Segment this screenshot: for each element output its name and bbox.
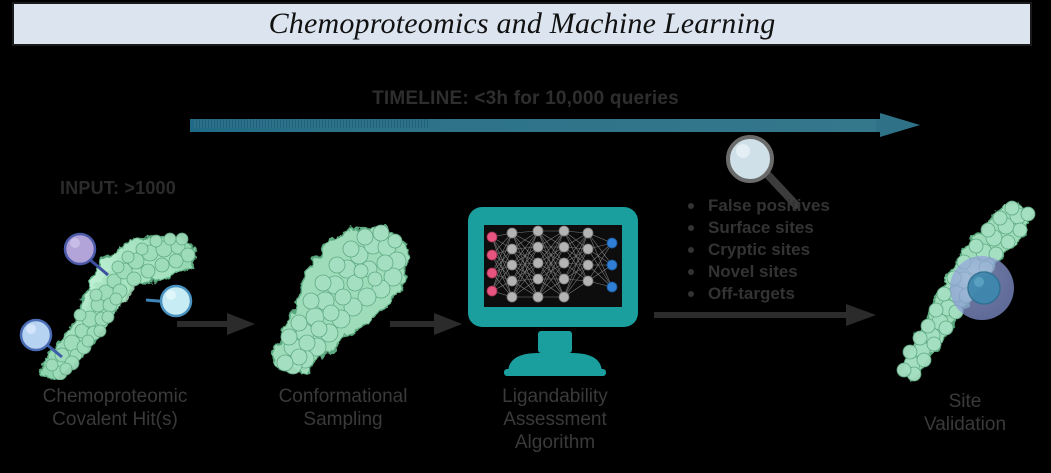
protein-conformational-sampling [255,205,440,385]
list-item: False positives [686,195,830,217]
list-item: Novel sites [686,261,830,283]
caption-conformational-sampling: Conformational Sampling [228,385,458,431]
validated-pocket-marker [950,256,1014,320]
page-title: Chemoproteomics and Machine Learning [269,7,776,41]
flow-arrow-3 [652,300,882,330]
site-marker-blue [21,320,62,357]
list-item: Surface sites [686,217,830,239]
timeline-label: TIMELINE: <3h for 10,000 queries [0,88,1051,110]
flow-arrow-1 [175,310,260,338]
site-marker-purple [65,234,108,275]
caption-ligandability-algorithm: Ligandability Assessment Algorithm [455,385,655,455]
findings-list: False positives Surface sites Cryptic si… [686,195,830,305]
protein-site-validation [890,192,1050,382]
protein-chemoproteomic-hits [10,205,220,380]
caption-site-validation: Site Validation [880,390,1050,436]
neural-net-output-nodes [607,238,617,292]
figure-canvas: Chemoproteomics and Machine Learning TIM… [0,0,1051,473]
title-banner: Chemoproteomics and Machine Learning [12,2,1032,46]
caption-chemoproteomic-hits: Chemoproteomic Covalent Hit(s) [0,385,230,431]
timeline-arrow [190,112,980,138]
list-item: Cryptic sites [686,239,830,261]
flow-arrow-2 [388,310,468,338]
ligandability-algorithm-monitor [460,203,655,378]
input-count-label: INPUT: >1000 [60,178,176,199]
